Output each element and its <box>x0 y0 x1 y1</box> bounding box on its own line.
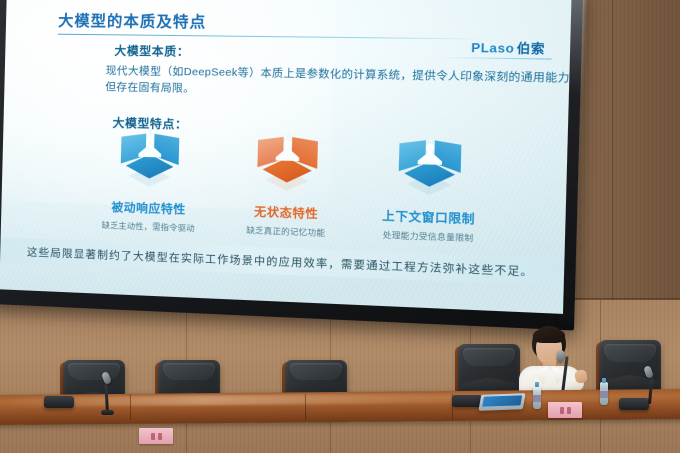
open-laptop[interactable] <box>478 393 525 411</box>
brand-logo-cn: 伯索 <box>517 41 546 56</box>
isometric-person-cube-icon <box>395 135 465 200</box>
water-bottle <box>600 382 608 405</box>
desk-console[interactable] <box>619 398 649 410</box>
feature-subtitle: 缺乏真正的记忆功能 <box>246 225 325 239</box>
slide-title: 大模型的本质及特点 <box>58 9 207 32</box>
feature-item: 上下文窗口限制 处理能力受信息量限制 <box>363 135 496 245</box>
feature-subtitle: 缺乏主动性，需指令驱动 <box>102 220 195 234</box>
slide-canvas: 大模型的本质及特点 PLaso伯索 大模型本质： 现代大模型（如DeepSeek… <box>0 0 571 314</box>
wall-seam <box>612 0 613 330</box>
isometric-person-cube-icon <box>254 132 322 196</box>
section-heading-essence: 大模型本质： <box>114 42 189 59</box>
feature-item: 被动响应特性 缺乏主动性，需指令驱动 <box>87 128 212 235</box>
desk-console[interactable] <box>44 396 74 408</box>
body-text-line-2: 但存在固有局限。 <box>105 79 195 97</box>
laptop-screen <box>482 395 522 406</box>
table-seam <box>130 394 131 420</box>
feature-subtitle: 处理能力受信息量限制 <box>383 229 474 244</box>
hair-fringe <box>533 328 565 343</box>
feature-list: 被动响应特性 缺乏主动性，需指令驱动 <box>87 128 496 256</box>
feature-title: 无状态特性 <box>254 203 319 222</box>
conference-table-front <box>0 413 680 453</box>
logo-divider <box>439 57 551 60</box>
brand-logo-latin: PLaso <box>471 40 515 55</box>
title-divider <box>58 34 492 40</box>
presentation-display[interactable]: 大模型的本质及特点 PLaso伯索 大模型本质： 现代大模型（如DeepSeek… <box>0 0 583 331</box>
isometric-person-cube-icon <box>117 129 183 192</box>
feature-item: 无状态特性 缺乏真正的记忆功能 <box>223 131 352 239</box>
microphone-base <box>101 410 114 415</box>
feature-title: 被动响应特性 <box>111 199 186 218</box>
desk-nameplate <box>139 428 173 444</box>
desk-console[interactable] <box>452 395 482 407</box>
brand-logo: PLaso伯索 <box>471 38 545 57</box>
conference-room-scene: 大模型的本质及特点 PLaso伯索 大模型本质： 现代大模型（如DeepSeek… <box>0 0 680 453</box>
desk-nameplate <box>548 402 582 418</box>
water-bottle <box>533 386 541 409</box>
feature-title: 上下文窗口限制 <box>382 207 475 227</box>
